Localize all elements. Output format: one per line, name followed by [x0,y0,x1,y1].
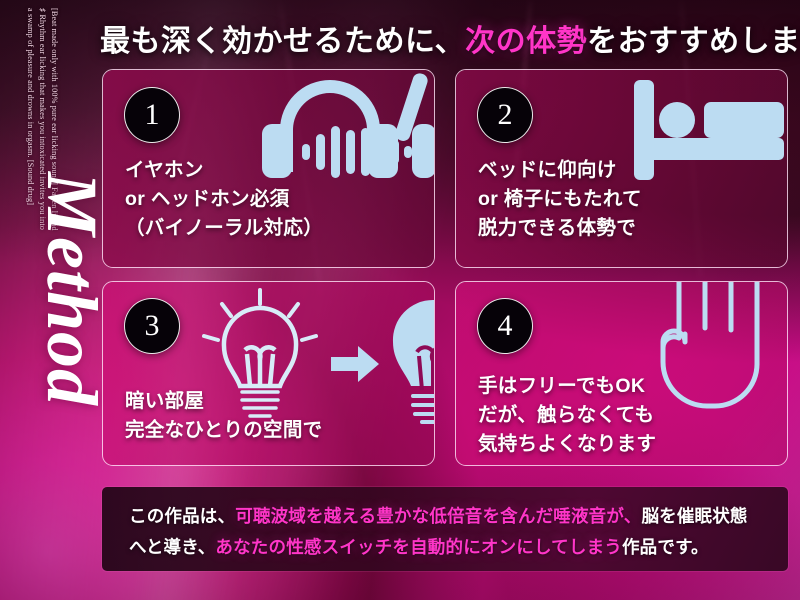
card-2-line-3: 脱力できる体勢で [478,214,642,243]
method-card-1: 1 イヤホン or ヘッドホン必須 （バイノーラル対応） [102,69,435,268]
side-caption: [Beat made only with 100% pure ear licki… [24,8,60,298]
bed-icon [634,80,784,180]
summary-banner-text: この作品は、可聴波域を越える豊かな低倍音を含んだ唾液音が、脳を催眠状態 へと導き… [129,501,769,563]
summary-line-1-highlight: 可聴波域を越える豊かな低倍音を含んだ唾液音が、 [235,506,641,526]
card-2-line-2: or 椅子にもたれて [478,185,642,214]
side-caption-line-1: [Beat made only with 100% pure ear licki… [48,8,60,298]
side-caption-line-2: ♯ Rhythm ear licking that makes you into… [36,8,48,298]
card-3-number: 3 [145,311,160,341]
card-1-number: 1 [145,100,160,130]
lightbulb-off-icon [377,294,435,426]
page-title-lead: 最も深く効かせるために、 [100,25,465,58]
card-1-line-1: イヤホン [125,156,323,185]
method-card-3: 3 暗い部屋 完全なひとりの空間で [102,281,435,466]
card-1-text: イヤホン or ヘッドホン必須 （バイノーラル対応） [125,156,323,243]
card-3-line-2: 完全なひとりの空間で [125,416,322,445]
side-caption-line-3: a swamp of pleasure and drowns in orgasm… [24,8,36,298]
page-title-tail: をおすすめします。 [587,25,800,58]
card-1-number-badge: 1 [124,87,180,143]
card-3-number-badge: 3 [124,298,180,354]
card-4-line-2: だが、触らなくても [478,401,656,430]
card-2-number: 2 [498,100,513,130]
card-4-line-1: 手はフリーでもOK [478,372,656,401]
card-2-line-1: ベッドに仰向け [478,156,642,185]
summary-line-1-white-a: この作品は、 [129,506,235,526]
summary-line-2-white-a: へと導き、 [129,537,215,557]
summary-line-1: この作品は、可聴波域を越える豊かな低倍音を含んだ唾液音が、脳を催眠状態 [129,501,769,532]
page-title-highlight: 次の体勢 [465,25,587,58]
arrow-right-icon [331,344,379,384]
card-1-line-3: （バイノーラル対応） [125,214,323,243]
card-2-number-badge: 2 [477,87,533,143]
summary-line-2-white-b: 作品です。 [622,537,709,557]
page-title: 最も深く効かせるために、次の体勢をおすすめします。 [100,16,790,60]
summary-line-2: へと導き、あなたの性感スイッチを自動的にオンにしてしまう作品です。 [129,532,769,563]
summary-line-1-white-b: 脳を催眠状態 [641,506,747,526]
card-3-text: 暗い部屋 完全なひとりの空間で [125,387,322,445]
card-3-line-1: 暗い部屋 [125,387,322,416]
summary-banner: この作品は、可聴波域を越える豊かな低倍音を含んだ唾液音が、脳を催眠状態 へと導き… [102,487,788,571]
method-card-2: 2 ベッドに仰向け or 椅子にもたれて 脱力できる体勢で [455,69,788,268]
summary-line-2-highlight: あなたの性感スイッチを自動的にオンにしてしまう [215,537,622,557]
card-1-line-2: or ヘッドホン必須 [125,185,323,214]
card-4-text: 手はフリーでもOK だが、触らなくても 気持ちよくなります [478,372,656,459]
card-2-text: ベッドに仰向け or 椅子にもたれて 脱力できる体勢で [478,156,642,243]
card-4-number-badge: 4 [477,298,533,354]
card-4-line-3: 気持ちよくなります [478,430,656,459]
method-card-4: 4 手はフリーでもOK だが、触らなくても 気持ちよくなります [455,281,788,466]
card-4-number: 4 [498,311,513,341]
